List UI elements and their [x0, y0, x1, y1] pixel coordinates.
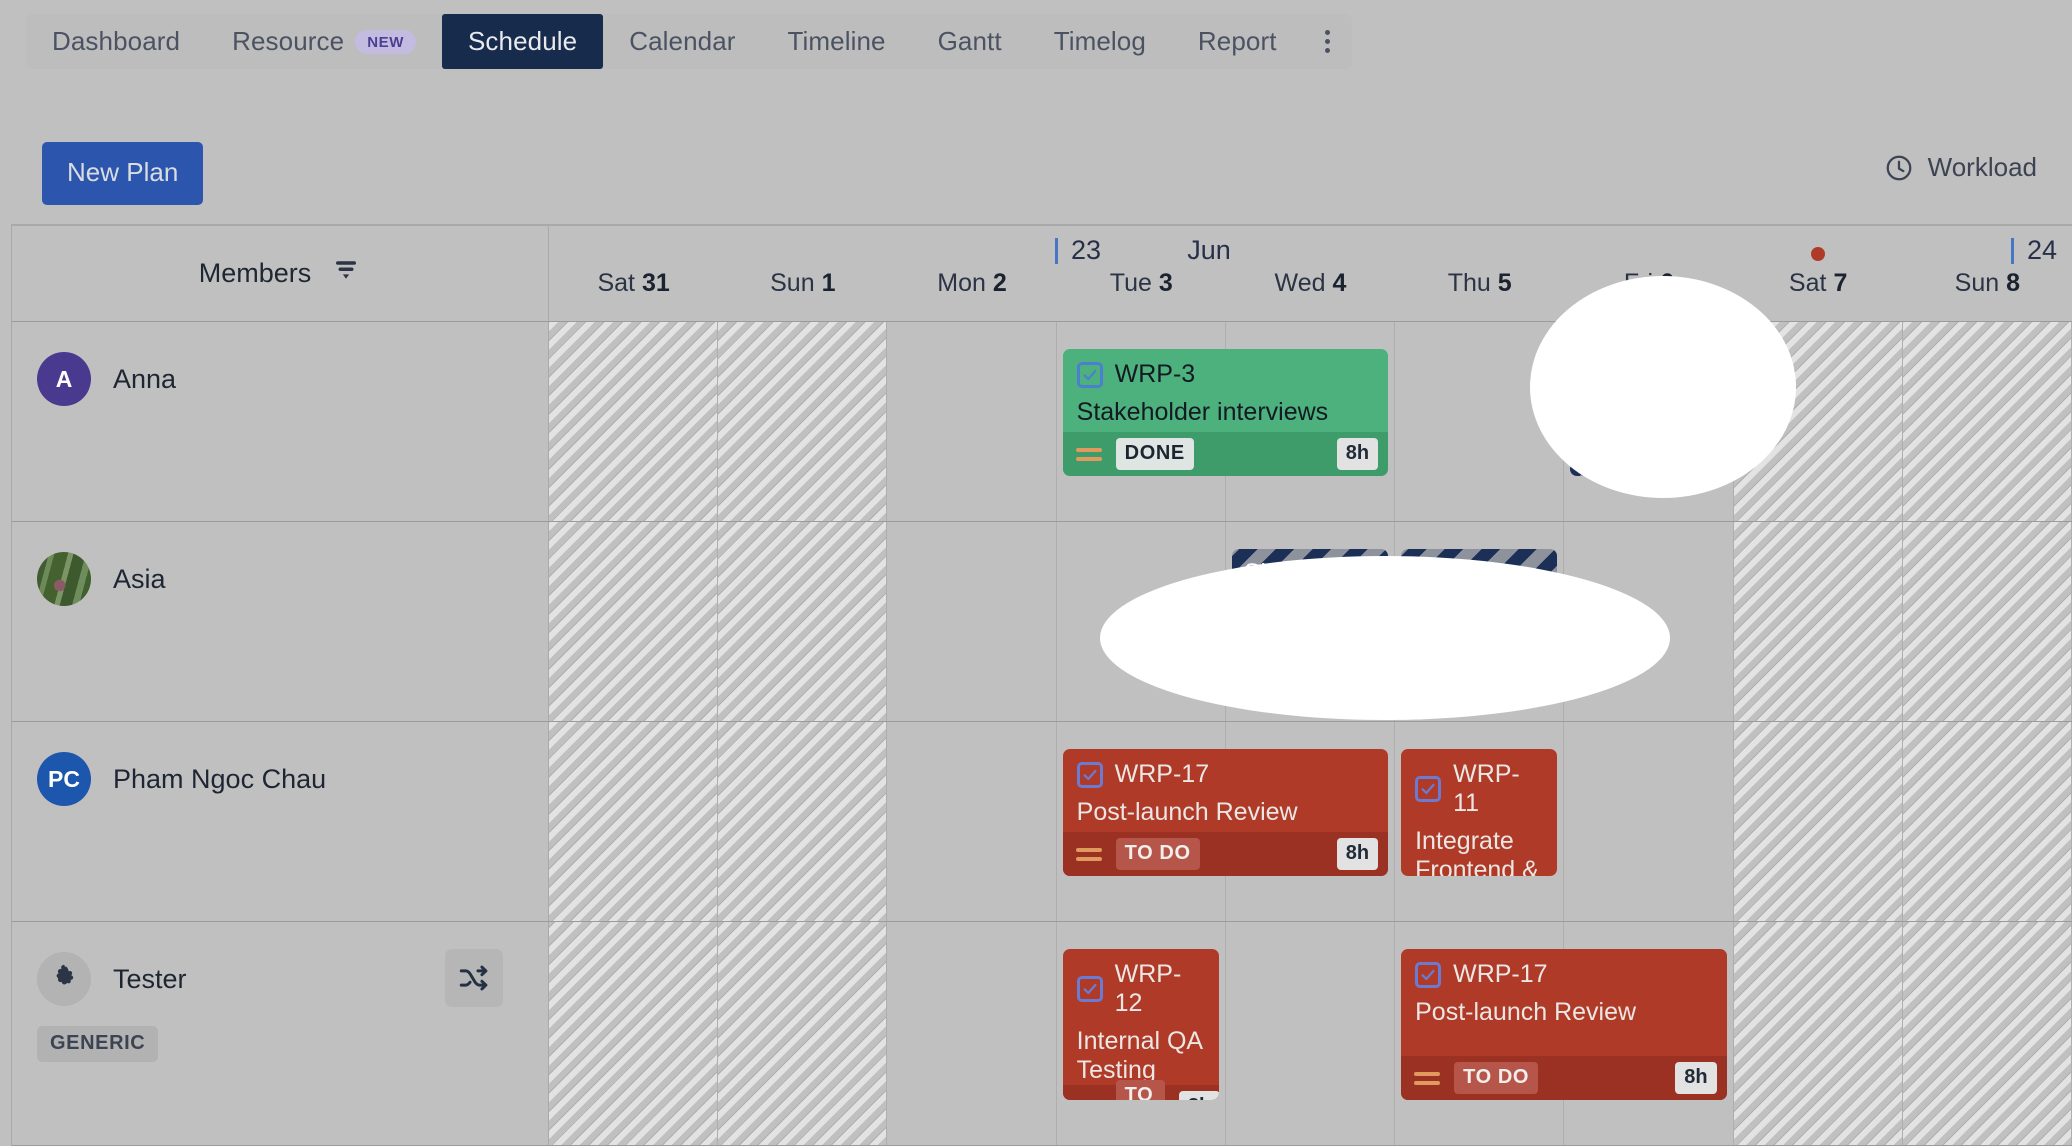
today-marker-dot	[1811, 247, 1825, 261]
schedule-lane: WRP-12Internal QA TestingTO DO8hWRP-17Po…	[549, 922, 2072, 1145]
task-card[interactable]: WRP-17Post-launch ReviewTO DO8h	[1063, 749, 1388, 876]
task-card-body: WRP-12Internal QA Testing	[1063, 949, 1219, 1085]
day-cell-fri-6[interactable]	[1564, 722, 1733, 921]
task-card-body: WRP-17Post-launch Review	[1401, 949, 1726, 1056]
workload-button[interactable]: Workload	[1884, 152, 2037, 183]
priority-medium-icon	[1076, 848, 1102, 861]
task-card-body: WRP-17Post-launch Review	[1063, 749, 1388, 832]
leave-title: Sick leave	[1413, 559, 1527, 588]
leave-block[interactable]: Sick leave8h	[1232, 549, 1388, 676]
task-title: Integrate Frontend &	[1415, 827, 1543, 876]
day-of-week: Wed	[1275, 269, 1326, 298]
day-header-thu-5[interactable]: Thu5	[1395, 269, 1564, 321]
day-cell-sun-1[interactable]	[718, 922, 887, 1145]
task-key: WRP-17	[1453, 960, 1547, 989]
generic-tag: GENERIC	[37, 1026, 158, 1062]
day-number: 1	[822, 269, 836, 298]
member-cell[interactable]: AAnna	[12, 322, 549, 521]
status-badge: DONE	[1116, 438, 1194, 470]
task-type-checkbox-icon	[1077, 976, 1103, 1002]
day-number: 7	[1833, 269, 1847, 298]
week-number: 23	[1071, 235, 1101, 266]
task-title: Stakeholder interviews	[1077, 398, 1374, 427]
day-cell-tue-3[interactable]	[1057, 522, 1226, 721]
member-cell[interactable]: Asia	[12, 522, 549, 721]
task-type-checkbox-icon	[1077, 762, 1103, 788]
day-number: 8	[2006, 269, 2020, 298]
task-title: Post-launch Review	[1415, 998, 1712, 1027]
member-info: Asia	[37, 552, 548, 606]
day-cell-sat-31[interactable]	[549, 522, 718, 721]
tab-label: Calendar	[629, 26, 735, 57]
day-of-week: Sat	[1789, 269, 1827, 298]
tab-timelog[interactable]: Timelog	[1028, 14, 1172, 69]
day-cell-sat-31[interactable]	[549, 322, 718, 521]
member-info: PCPham Ngoc Chau	[37, 752, 548, 806]
day-cell-mon-2[interactable]	[887, 322, 1056, 521]
leave-hours: 8h	[1506, 635, 1547, 667]
task-hours: 8h	[1337, 438, 1378, 470]
task-hours: 8h	[1675, 1062, 1716, 1094]
task-card-body: WRP-11Integrate Frontend &	[1401, 749, 1557, 876]
day-cell-mon-2[interactable]	[887, 722, 1056, 921]
tab-timeline[interactable]: Timeline	[762, 14, 912, 69]
new-badge: NEW	[355, 30, 416, 54]
leave-title: Sick leave	[1244, 559, 1358, 588]
kebab-menu-icon[interactable]	[1303, 14, 1352, 69]
task-type-checkbox-icon	[1415, 776, 1441, 802]
avatar-initials: PC	[48, 766, 80, 793]
day-cell-sat-31[interactable]	[549, 722, 718, 921]
avatar[interactable]: A	[37, 352, 91, 406]
day-cell-sun-8[interactable]	[1903, 322, 2072, 521]
task-hours: 8h	[1179, 1091, 1219, 1100]
day-header-wed-4[interactable]: Wed4	[1226, 269, 1395, 321]
member-name: Pham Ngoc Chau	[113, 764, 326, 795]
day-header-strip: 2324JunSat31Sun1Mon2Tue3Wed4Thu5Fri6Sat7…	[549, 226, 2072, 321]
task-card-body: WRP-3Stakeholder interviews	[1063, 349, 1388, 432]
day-cell-sun-1[interactable]	[718, 522, 887, 721]
day-cell-sat-7[interactable]	[1734, 522, 1903, 721]
member-name: Asia	[113, 564, 166, 595]
day-cells: Sat31Sun1Mon2Tue3Wed4Thu5Fri6Sat7Sun8	[549, 269, 2072, 321]
schedule-lane: WRP-17Post-launch ReviewTO DO8hWRP-11Int…	[549, 722, 2072, 921]
member-cell[interactable]: PCPham Ngoc Chau	[12, 722, 549, 921]
workload-label: Workload	[1928, 152, 2037, 183]
status-badge: TO DO	[1116, 838, 1200, 870]
member-name: Tester	[113, 964, 187, 995]
tab-resource[interactable]: ResourceNEW	[206, 14, 442, 69]
day-of-week: Sat	[597, 269, 635, 298]
day-number: 31	[642, 269, 670, 298]
new-plan-button[interactable]: New Plan	[42, 142, 203, 205]
day-cell-sat-7[interactable]	[1734, 322, 1903, 521]
priority-medium-icon	[1076, 448, 1102, 461]
day-header-tue-3[interactable]: Tue3	[1057, 269, 1226, 321]
day-cell-sun-1[interactable]	[718, 722, 887, 921]
tab-label: Schedule	[468, 26, 577, 57]
tab-gantt[interactable]: Gantt	[912, 14, 1028, 69]
member-name: Anna	[113, 364, 176, 395]
day-of-week: Sun	[1955, 269, 1999, 298]
day-number: 3	[1159, 269, 1173, 298]
member-row: AsiaSick leave8hSick leave8h	[12, 522, 2072, 722]
schedule-lane: Sick leave8hSick leave8h	[549, 522, 2072, 721]
day-header-sun-8[interactable]: Sun8	[1903, 269, 2072, 321]
status-badge: TO DO	[1116, 1080, 1165, 1101]
schedule-lane: WRP-3Stakeholder interviewsDONE8hPaid va…	[549, 322, 2072, 521]
task-key-row: WRP-17	[1077, 760, 1374, 789]
tab-dashboard[interactable]: Dashboard	[26, 14, 206, 69]
clock-icon	[1884, 153, 1914, 183]
day-cell-thu-5[interactable]	[1395, 322, 1564, 521]
day-cell-sun-1[interactable]	[718, 322, 887, 521]
task-key-row: WRP-3	[1077, 360, 1374, 389]
week-number: 24	[2027, 235, 2057, 266]
day-number: 4	[1333, 269, 1347, 298]
task-card-footer: TO DO8h	[1401, 1056, 1726, 1100]
leave-block[interactable]: Paid vacation8h	[1570, 349, 1726, 476]
day-header-sun-1[interactable]: Sun1	[718, 269, 887, 321]
day-header-mon-2[interactable]: Mon2	[887, 269, 1056, 321]
leave-block[interactable]: Sick leave8h	[1401, 549, 1557, 676]
shuffle-icon[interactable]	[445, 949, 503, 1007]
task-key: WRP-17	[1115, 760, 1209, 789]
task-card[interactable]: WRP-11Integrate Frontend &TO DO8h	[1401, 749, 1557, 876]
day-cell-mon-2[interactable]	[887, 522, 1056, 721]
task-key: WRP-11	[1453, 760, 1543, 818]
day-cell-sun-8[interactable]	[1903, 922, 2072, 1145]
leave-title: Paid vacation	[1582, 359, 1726, 417]
tab-calendar[interactable]: Calendar	[603, 14, 761, 69]
day-of-week: Fri	[1624, 269, 1653, 298]
week-number-marker: 24	[2011, 235, 2057, 266]
day-cell-wed-4[interactable]	[1226, 922, 1395, 1145]
member-row: TesterGENERICWRP-12Internal QA TestingTO…	[12, 922, 2072, 1146]
grid-header: Members 2324JunSat31Sun1Mon2Tue3Wed4Thu5…	[12, 226, 2072, 322]
day-of-week: Tue	[1110, 269, 1152, 298]
day-cell-mon-2[interactable]	[887, 922, 1056, 1145]
day-of-week: Mon	[937, 269, 986, 298]
avatar[interactable]	[37, 952, 91, 1006]
task-type-checkbox-icon	[1415, 962, 1441, 988]
day-number: 6	[1660, 269, 1674, 298]
task-card-footer: DONE8h	[1063, 432, 1388, 476]
day-number: 2	[993, 269, 1007, 298]
month-label: Jun	[1187, 235, 1231, 266]
puzzle-piece-icon	[47, 962, 81, 996]
tab-label: Report	[1198, 26, 1277, 57]
day-header-fri-6[interactable]: Fri6	[1564, 269, 1733, 321]
avatar-initials: A	[56, 366, 73, 393]
avatar[interactable]: PC	[37, 752, 91, 806]
avatar[interactable]	[37, 552, 91, 606]
task-card[interactable]: WRP-17Post-launch ReviewTO DO8h	[1401, 949, 1726, 1100]
tab-schedule[interactable]: Schedule	[442, 14, 603, 69]
week-number-marker: 23	[1055, 235, 1101, 266]
task-card[interactable]: WRP-3Stakeholder interviewsDONE8h	[1063, 349, 1388, 476]
task-card-footer: TO DO8h	[1063, 832, 1388, 876]
main-tab-bar: DashboardResourceNEWScheduleCalendarTime…	[26, 14, 1352, 69]
day-number: 5	[1498, 269, 1512, 298]
day-cell-sun-8[interactable]	[1903, 522, 2072, 721]
members-column-header[interactable]: Members	[12, 226, 549, 321]
member-row: PCPham Ngoc ChauWRP-17Post-launch Review…	[12, 722, 2072, 922]
task-title: Internal QA Testing	[1077, 1027, 1205, 1085]
day-of-week: Sun	[770, 269, 814, 298]
task-title: Post-launch Review	[1077, 798, 1374, 827]
task-key: WRP-3	[1115, 360, 1196, 389]
filter-icon[interactable]	[331, 255, 361, 292]
member-row: AAnnaWRP-3Stakeholder interviewsDONE8hPa…	[12, 322, 2072, 522]
tab-label: Timeline	[788, 26, 886, 57]
tab-label: Resource	[232, 26, 344, 57]
schedule-grid: Members 2324JunSat31Sun1Mon2Tue3Wed4Thu5…	[11, 224, 2072, 1146]
task-type-checkbox-icon	[1077, 362, 1103, 388]
member-info: AAnna	[37, 352, 548, 406]
day-cell-fri-6[interactable]	[1564, 522, 1733, 721]
day-header-sat-31[interactable]: Sat31	[549, 269, 718, 321]
leave-hours: 8h	[1675, 435, 1716, 467]
priority-medium-icon	[1414, 1072, 1440, 1085]
status-badge: TO DO	[1454, 1062, 1538, 1094]
day-cell-sat-7[interactable]	[1734, 722, 1903, 921]
day-cell-sat-31[interactable]	[549, 922, 718, 1145]
tab-label: Timelog	[1054, 26, 1146, 57]
tab-label: Gantt	[938, 26, 1002, 57]
task-key-row: WRP-11	[1415, 760, 1543, 818]
members-label: Members	[199, 258, 312, 289]
day-cell-sun-8[interactable]	[1903, 722, 2072, 921]
task-card-footer: TO DO8h	[1063, 1085, 1219, 1100]
day-header-sat-7[interactable]: Sat7	[1734, 269, 1903, 321]
tab-label: Dashboard	[52, 26, 180, 57]
task-card[interactable]: WRP-12Internal QA TestingTO DO8h	[1063, 949, 1219, 1100]
leave-hours: 8h	[1337, 635, 1378, 667]
tab-report[interactable]: Report	[1172, 14, 1303, 69]
task-key-row: WRP-12	[1077, 960, 1205, 1018]
task-hours: 8h	[1337, 838, 1378, 870]
day-cell-sat-7[interactable]	[1734, 922, 1903, 1145]
task-key-row: WRP-17	[1415, 960, 1712, 989]
member-rows: AAnnaWRP-3Stakeholder interviewsDONE8hPa…	[12, 322, 2072, 1146]
task-key: WRP-12	[1115, 960, 1205, 1018]
day-of-week: Thu	[1448, 269, 1491, 298]
member-cell[interactable]: TesterGENERIC	[12, 922, 549, 1145]
